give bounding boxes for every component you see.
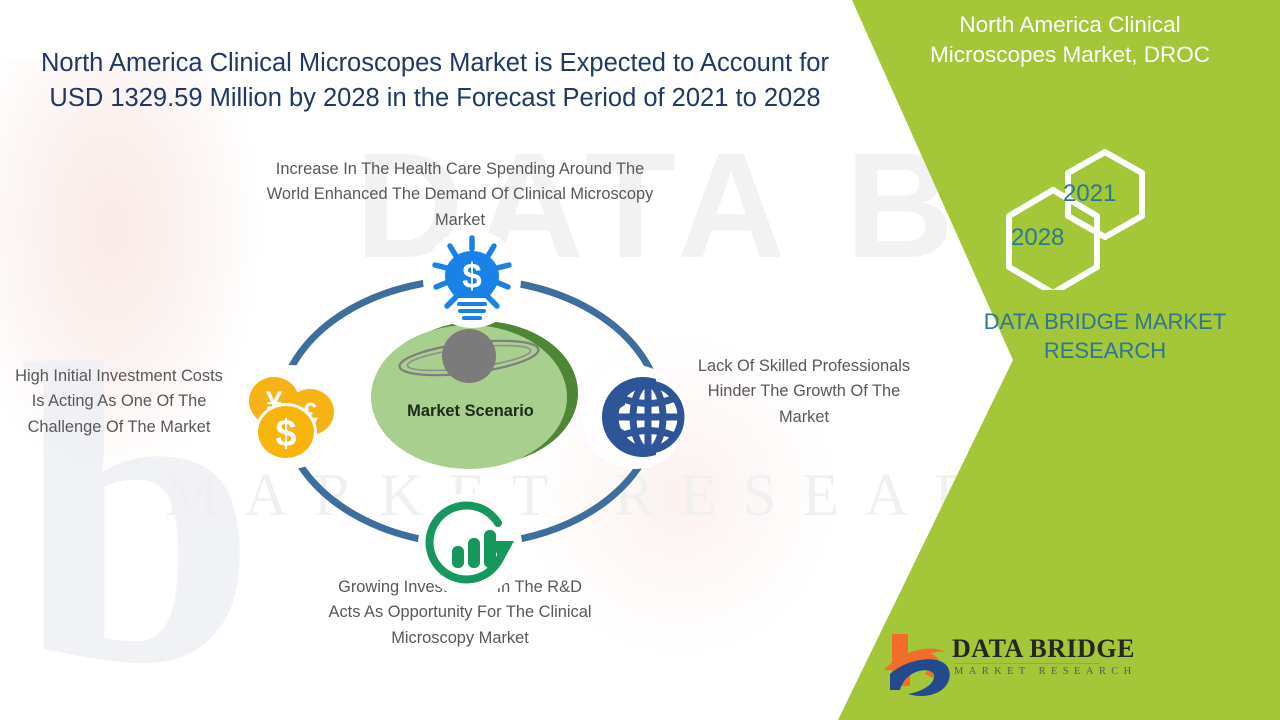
coins-currency-icon: ¥ £ $ [238, 365, 342, 469]
infographic-canvas: b DATA BRIDGE MARKET RESEARCH North Amer… [0, 0, 1280, 720]
node-right[interactable] [582, 365, 686, 469]
page-title: North America Clinical Microscopes Marke… [40, 46, 830, 116]
hexagon-shapes [975, 140, 1185, 290]
logo-divider [954, 663, 1100, 664]
hexagon-group: 2021 2028 [975, 140, 1185, 290]
hexagon-2028-label: 2028 [1011, 224, 1064, 252]
callout-driver-top: Increase In The Health Care Spending Aro… [263, 157, 657, 233]
callout-restraint-right: Lack Of Skilled Professionals Hinder The… [690, 354, 918, 430]
data-bridge-logo[interactable]: DATA BRIDGE MARKET RESEARCH [880, 630, 1110, 700]
svg-text:$: $ [462, 257, 481, 296]
market-scenario-label: Market Scenario [388, 400, 553, 424]
panel-brand-text: DATA BRIDGE MARKET RESEARCH [955, 307, 1255, 365]
growth-chart-arrow-icon [418, 493, 522, 597]
globe-person-icon [582, 365, 686, 469]
node-top[interactable]: $ [423, 230, 521, 328]
lightbulb-dollar-icon: $ [423, 230, 521, 328]
droc-diagram: Market Scenario [240, 225, 700, 570]
node-bottom[interactable] [418, 493, 522, 597]
logo-subtitle: MARKET RESEARCH [954, 666, 1137, 677]
logo-title: DATA BRIDGE [952, 634, 1135, 664]
callout-challenge-left: High Initial Investment Costs Is Acting … [8, 364, 230, 440]
panel-title: North America Clinical Microscopes Marke… [905, 10, 1235, 70]
node-left[interactable]: ¥ £ $ [238, 365, 342, 469]
hexagon-2021-label: 2021 [1063, 180, 1116, 208]
svg-text:$: $ [275, 413, 296, 455]
